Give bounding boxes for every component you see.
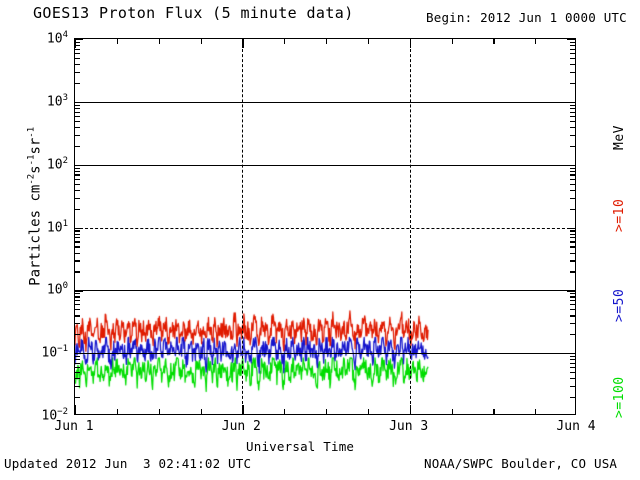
y-minor-tick xyxy=(570,237,575,238)
x-tick-label: Jun 3 xyxy=(374,419,444,434)
gridline-solid xyxy=(75,165,575,166)
y-minor-tick xyxy=(570,363,575,364)
y-minor-tick xyxy=(570,323,575,324)
x-minor-tick xyxy=(201,409,202,414)
gridline-solid xyxy=(75,353,575,354)
x-minor-tick xyxy=(159,39,160,44)
y-minor-tick xyxy=(570,105,575,106)
y-minor-tick xyxy=(570,309,575,310)
y-minor-tick xyxy=(570,184,575,185)
y-minor-tick xyxy=(570,359,575,360)
y-minor-tick xyxy=(570,179,575,180)
y-minor-tick xyxy=(570,45,575,46)
x-major-tick xyxy=(242,39,243,48)
y-minor-tick xyxy=(75,64,80,65)
y-minor-tick xyxy=(570,42,575,43)
y-minor-tick xyxy=(75,49,80,50)
gridline-solid xyxy=(75,102,575,103)
y-minor-tick xyxy=(75,53,80,54)
y-minor-tick xyxy=(570,397,575,398)
y-minor-tick xyxy=(75,209,80,210)
y-major-tick xyxy=(567,290,575,291)
y-minor-tick xyxy=(570,83,575,84)
y-tick-label: 104 xyxy=(10,30,68,46)
y-minor-tick xyxy=(570,241,575,242)
y-minor-tick xyxy=(570,112,575,113)
y-minor-tick xyxy=(570,209,575,210)
begin-time-label: Begin: 2012 Jun 1 0000 UTC xyxy=(426,12,627,25)
y-major-tick xyxy=(567,39,575,40)
y-minor-tick xyxy=(75,397,80,398)
y-minor-tick xyxy=(75,171,80,172)
x-minor-tick xyxy=(284,409,285,414)
y-major-tick xyxy=(75,290,83,291)
x-minor-tick xyxy=(284,39,285,44)
y-minor-tick xyxy=(75,386,80,387)
y-minor-tick xyxy=(75,304,80,305)
y-minor-tick xyxy=(570,315,575,316)
y-minor-tick xyxy=(75,237,80,238)
day-boundary-line xyxy=(410,39,411,414)
y-minor-tick xyxy=(75,356,80,357)
y-minor-tick xyxy=(570,116,575,117)
y-minor-tick xyxy=(570,378,575,379)
y-minor-tick xyxy=(570,300,575,301)
y-minor-tick xyxy=(75,168,80,169)
y-minor-tick xyxy=(570,246,575,247)
y-tick-label: 102 xyxy=(10,156,68,172)
x-minor-tick xyxy=(493,39,494,44)
y-minor-tick xyxy=(570,198,575,199)
y-minor-tick xyxy=(75,179,80,180)
y-major-tick xyxy=(75,228,83,229)
y-minor-tick xyxy=(75,309,80,310)
x-major-tick xyxy=(242,405,243,414)
x-tick-label: Jun 2 xyxy=(206,419,276,434)
y-minor-tick xyxy=(570,271,575,272)
y-minor-tick xyxy=(570,367,575,368)
y-minor-tick xyxy=(75,315,80,316)
y-minor-tick xyxy=(570,135,575,136)
x-major-tick xyxy=(75,39,76,48)
y-minor-tick xyxy=(75,367,80,368)
y-minor-tick xyxy=(570,190,575,191)
y-minor-tick xyxy=(570,49,575,50)
y-minor-tick xyxy=(75,135,80,136)
gridline-dashed xyxy=(75,228,575,229)
x-minor-tick xyxy=(117,39,118,44)
credit-label: NOAA/SWPC Boulder, CO USA xyxy=(424,458,617,471)
y-minor-tick xyxy=(570,127,575,128)
gridline-solid xyxy=(75,290,575,291)
x-major-tick xyxy=(410,39,411,48)
y-minor-tick xyxy=(75,198,80,199)
y-minor-tick xyxy=(570,171,575,172)
y-minor-tick xyxy=(570,386,575,387)
x-minor-tick xyxy=(535,409,536,414)
y-minor-tick xyxy=(75,260,80,261)
y-major-tick xyxy=(75,353,83,354)
y-minor-tick xyxy=(570,230,575,231)
y-minor-tick xyxy=(75,58,80,59)
y-minor-tick xyxy=(570,304,575,305)
y-minor-tick xyxy=(570,72,575,73)
legend-label: >=10 xyxy=(612,199,627,232)
y-minor-tick xyxy=(75,108,80,109)
y-minor-tick xyxy=(75,378,80,379)
y-minor-tick xyxy=(570,146,575,147)
legend-label: >=50 xyxy=(612,289,627,322)
y-minor-tick xyxy=(570,296,575,297)
x-minor-tick xyxy=(452,409,453,414)
y-tick-label: 10−1 xyxy=(10,344,68,360)
day-boundary-line xyxy=(242,39,243,414)
x-minor-tick xyxy=(326,39,327,44)
y-major-tick xyxy=(75,165,83,166)
y-minor-tick xyxy=(570,334,575,335)
x-minor-tick xyxy=(493,409,494,414)
y-minor-tick xyxy=(75,296,80,297)
y-tick-label: 103 xyxy=(10,93,68,109)
x-minor-tick xyxy=(535,39,536,44)
x-minor-tick xyxy=(201,39,202,44)
y-minor-tick xyxy=(75,253,80,254)
x-minor-tick xyxy=(368,39,369,44)
y-minor-tick xyxy=(75,271,80,272)
x-minor-tick xyxy=(368,409,369,414)
y-minor-tick xyxy=(75,127,80,128)
plot-area xyxy=(74,38,576,415)
y-minor-tick xyxy=(570,121,575,122)
legend-label: >=100 xyxy=(612,376,627,418)
y-major-tick xyxy=(567,228,575,229)
y-minor-tick xyxy=(75,112,80,113)
y-minor-tick xyxy=(570,253,575,254)
y-major-tick xyxy=(75,39,83,40)
y-minor-tick xyxy=(570,234,575,235)
y-minor-tick xyxy=(75,72,80,73)
y-minor-tick xyxy=(75,83,80,84)
x-minor-tick xyxy=(159,409,160,414)
flux-traces-canvas xyxy=(75,39,575,414)
y-minor-tick xyxy=(75,190,80,191)
x-major-tick xyxy=(410,405,411,414)
y-minor-tick xyxy=(75,230,80,231)
x-major-tick xyxy=(75,405,76,414)
y-minor-tick xyxy=(570,372,575,373)
y-tick-label: 100 xyxy=(10,281,68,297)
y-minor-tick xyxy=(75,246,80,247)
y-minor-tick xyxy=(570,293,575,294)
y-minor-tick xyxy=(75,146,80,147)
y-minor-tick xyxy=(75,359,80,360)
y-minor-tick xyxy=(75,300,80,301)
x-minor-tick xyxy=(452,39,453,44)
y-minor-tick xyxy=(75,105,80,106)
x-minor-tick xyxy=(117,409,118,414)
y-major-tick xyxy=(567,353,575,354)
y-minor-tick xyxy=(75,116,80,117)
goes-proton-flux-plot: GOES13 Proton Flux (5 minute data) Begin… xyxy=(0,0,640,480)
legend-label: MeV xyxy=(612,125,627,150)
x-tick-label: Jun 4 xyxy=(541,419,611,434)
y-minor-tick xyxy=(75,363,80,364)
y-minor-tick xyxy=(75,174,80,175)
x-tick-label: Jun 1 xyxy=(39,419,109,434)
x-minor-tick xyxy=(326,409,327,414)
y-minor-tick xyxy=(570,58,575,59)
y-minor-tick xyxy=(75,234,80,235)
y-minor-tick xyxy=(75,372,80,373)
y-minor-tick xyxy=(75,293,80,294)
y-minor-tick xyxy=(570,260,575,261)
updated-timestamp: Updated 2012 Jun 3 02:41:02 UTC xyxy=(4,458,251,471)
y-minor-tick xyxy=(75,184,80,185)
y-minor-tick xyxy=(570,356,575,357)
y-major-tick xyxy=(567,102,575,103)
y-minor-tick xyxy=(75,323,80,324)
y-minor-tick xyxy=(570,108,575,109)
y-minor-tick xyxy=(75,121,80,122)
y-tick-label: 101 xyxy=(10,219,68,235)
y-major-tick xyxy=(567,165,575,166)
y-minor-tick xyxy=(570,64,575,65)
x-axis-label: Universal Time xyxy=(246,441,354,454)
y-minor-tick xyxy=(570,174,575,175)
y-minor-tick xyxy=(75,241,80,242)
y-minor-tick xyxy=(75,334,80,335)
page-title: GOES13 Proton Flux (5 minute data) xyxy=(33,6,354,21)
y-minor-tick xyxy=(570,53,575,54)
y-major-tick xyxy=(75,102,83,103)
y-minor-tick xyxy=(570,168,575,169)
